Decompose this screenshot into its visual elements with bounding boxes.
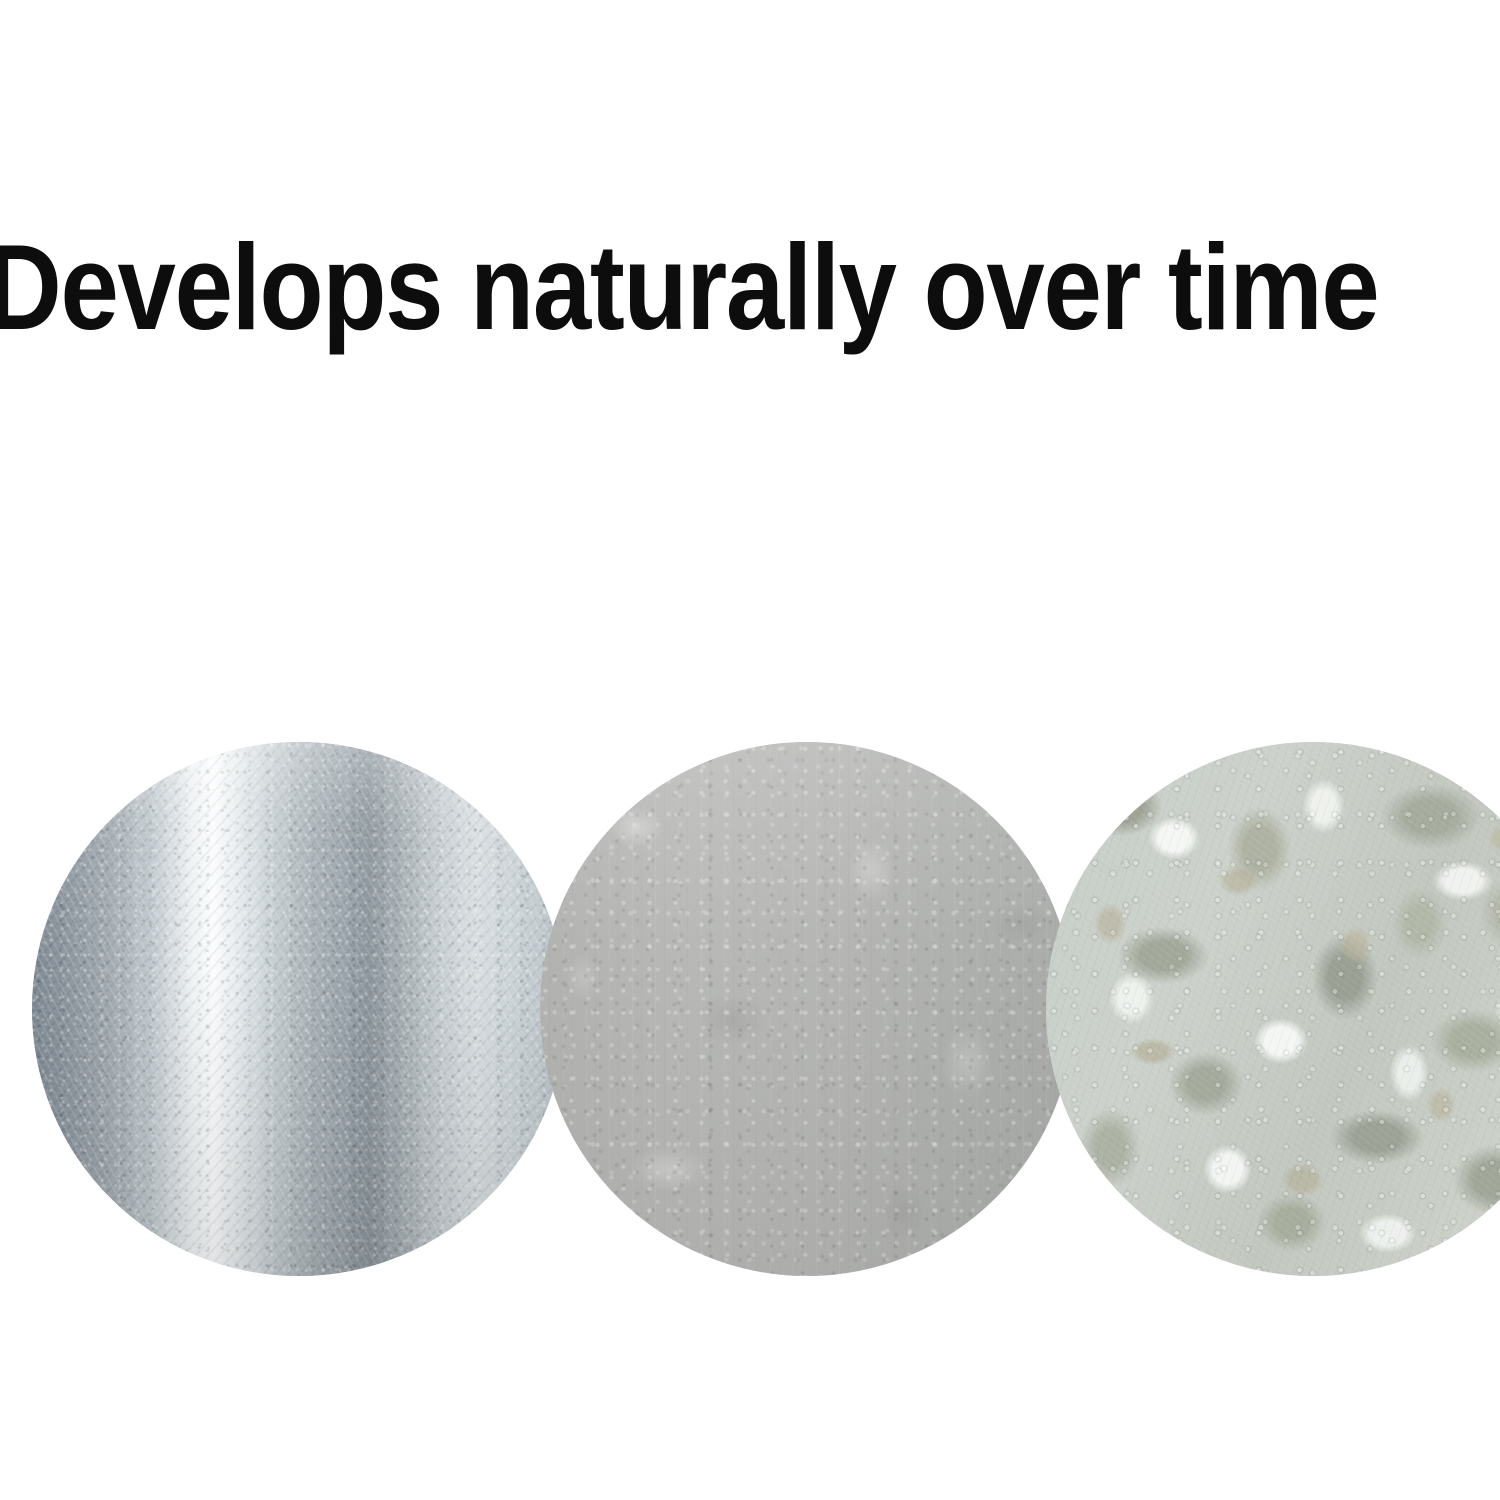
patina-grain-layer	[1046, 742, 1500, 1276]
stage-circle-bright-galvanized-zinc	[32, 742, 566, 1276]
headline-band: Develops naturally over time	[0, 228, 1500, 358]
weathering-stage-row	[0, 742, 1500, 1276]
page-title: Develops naturally over time	[0, 228, 1379, 346]
zinc-vertical-shade-layer	[32, 742, 566, 1276]
stage-circle-mature-patina	[1046, 742, 1500, 1276]
dull-shade-layer	[540, 742, 1074, 1276]
stage-circle-dull-weathered-grey	[540, 742, 1074, 1276]
